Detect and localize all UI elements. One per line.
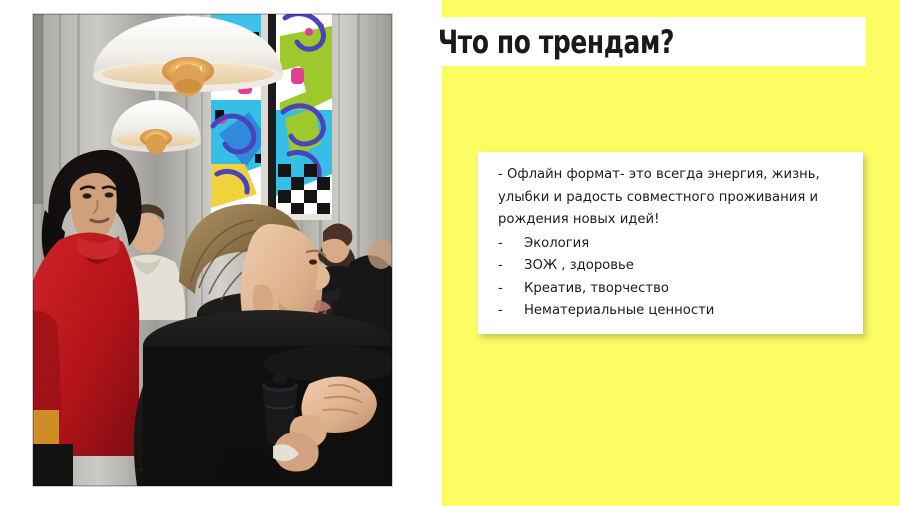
list-item: - Экология: [498, 233, 849, 256]
list-item-label: Экология: [524, 233, 589, 256]
bullet-marker: -: [498, 278, 524, 301]
intro-paragraph: - Офлайн формат- это всегда энергия, жиз…: [498, 164, 849, 232]
list-item-label: Креатив, творчество: [524, 278, 669, 301]
event-photo: [33, 14, 392, 486]
slide: Что по трендам? - Офлайн формат- это все…: [0, 0, 900, 506]
content-card: - Офлайн формат- это всегда энергия, жиз…: [478, 152, 863, 334]
content-body: - Офлайн формат- это всегда энергия, жиз…: [478, 152, 863, 333]
list-item-label: ЗОЖ , здоровье: [524, 255, 634, 278]
list-item: - ЗОЖ , здоровье: [498, 255, 849, 278]
event-photo-illustration: [33, 14, 392, 486]
list-item-label: Нематериальные ценности: [524, 300, 714, 323]
list-item: - Нематериальные ценности: [498, 300, 849, 323]
trends-list: - Экология - ЗОЖ , здоровье - Креатив, т…: [498, 233, 849, 323]
list-item: - Креатив, творчество: [498, 278, 849, 301]
bullet-marker: -: [498, 255, 524, 278]
bullet-marker: -: [498, 233, 524, 256]
page-title: Что по трендам?: [438, 17, 773, 66]
bullet-marker: -: [498, 300, 524, 323]
